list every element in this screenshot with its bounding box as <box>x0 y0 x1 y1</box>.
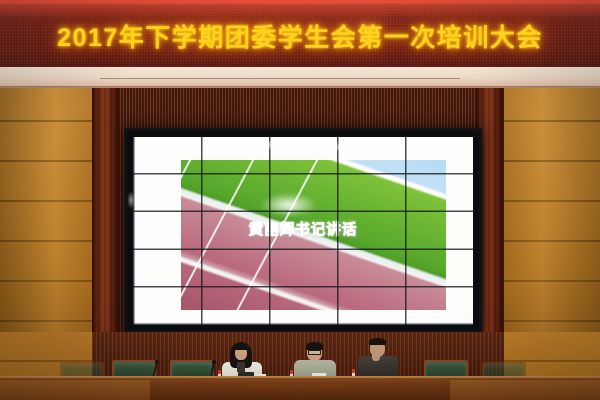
video-wall-screen: 黄丽辉书记讲话 <box>133 137 473 325</box>
person-left-collar <box>237 362 245 372</box>
person-left-hair-front <box>234 344 248 350</box>
led-banner-title: 2017年下学期团委学生会第一次培训大会 <box>0 18 600 54</box>
slide-caption: 黄丽辉书记讲话 <box>133 219 473 240</box>
microphone-head-2 <box>212 360 216 364</box>
conference-hall-photo: 2017年下学期团委学生会第一次培训大会 黄丽辉书记讲话 <box>0 0 600 400</box>
person-right-hair <box>369 338 386 345</box>
video-wall-left-reflection <box>127 191 135 209</box>
video-wall: 黄丽辉书记讲话 <box>124 128 482 334</box>
head-table-right-section <box>450 380 600 400</box>
person-right-hand <box>372 352 380 361</box>
person-center-glasses <box>308 350 321 355</box>
head-table-left-section <box>0 380 150 400</box>
ceiling-soffit-seam <box>100 78 460 79</box>
person-center-hair <box>306 342 323 350</box>
led-banner-panel: 2017年下学期团委学生会第一次培训大会 <box>0 5 600 67</box>
microphone-head-1 <box>155 360 159 364</box>
